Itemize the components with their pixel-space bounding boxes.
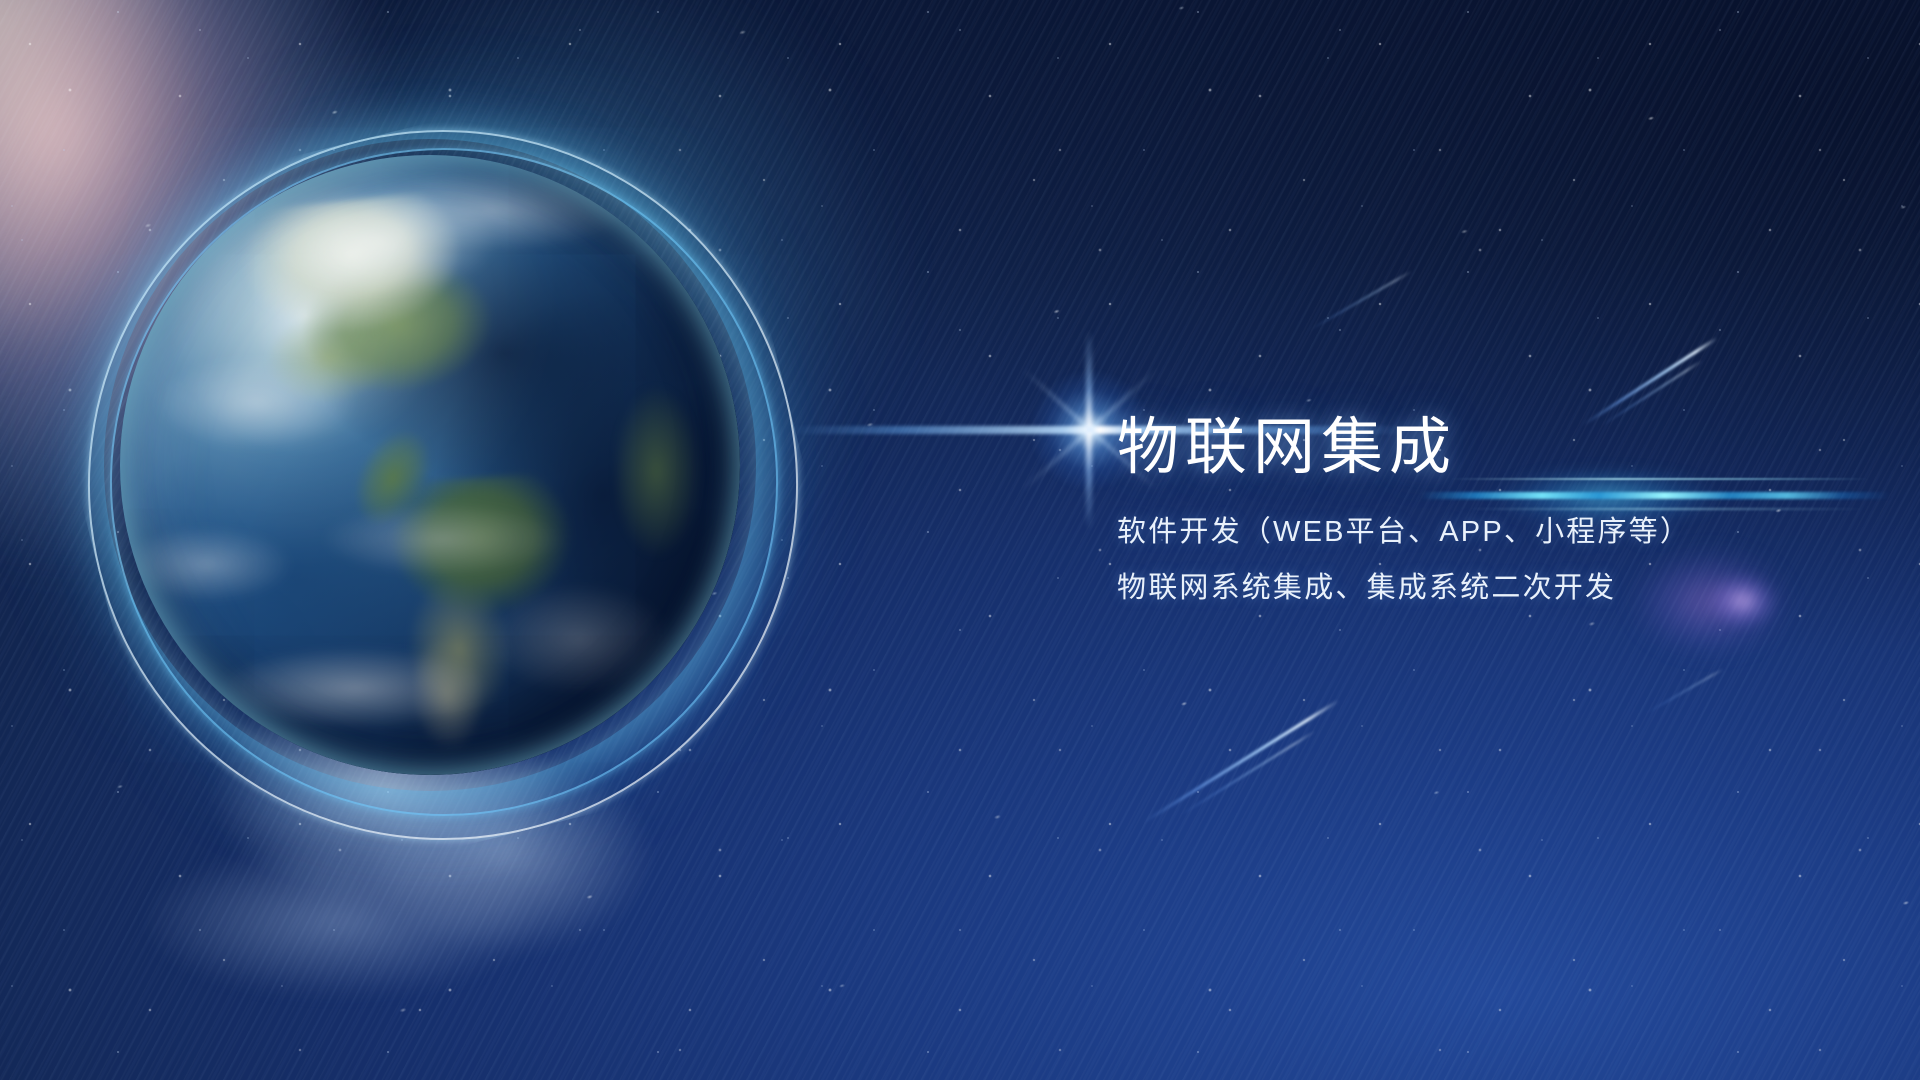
banner-subtitle-2: 物联网系统集成、集成系统二次开发 xyxy=(1117,574,1877,603)
globe-sphere xyxy=(120,155,740,775)
banner-headline: 物联网集成 xyxy=(1117,415,1877,480)
hero-banner: 物联网集成 软件开发（WEB平台、APP、小程序等） 物联网系统集成、集成系统二… xyxy=(0,0,1920,1080)
globe-limb-glow xyxy=(120,155,740,775)
banner-text-block: 物联网集成 软件开发（WEB平台、APP、小程序等） 物联网系统集成、集成系统二… xyxy=(1117,415,1877,603)
earth-globe xyxy=(120,155,740,775)
banner-subtitle-1: 软件开发（WEB平台、APP、小程序等） xyxy=(1117,518,1877,547)
